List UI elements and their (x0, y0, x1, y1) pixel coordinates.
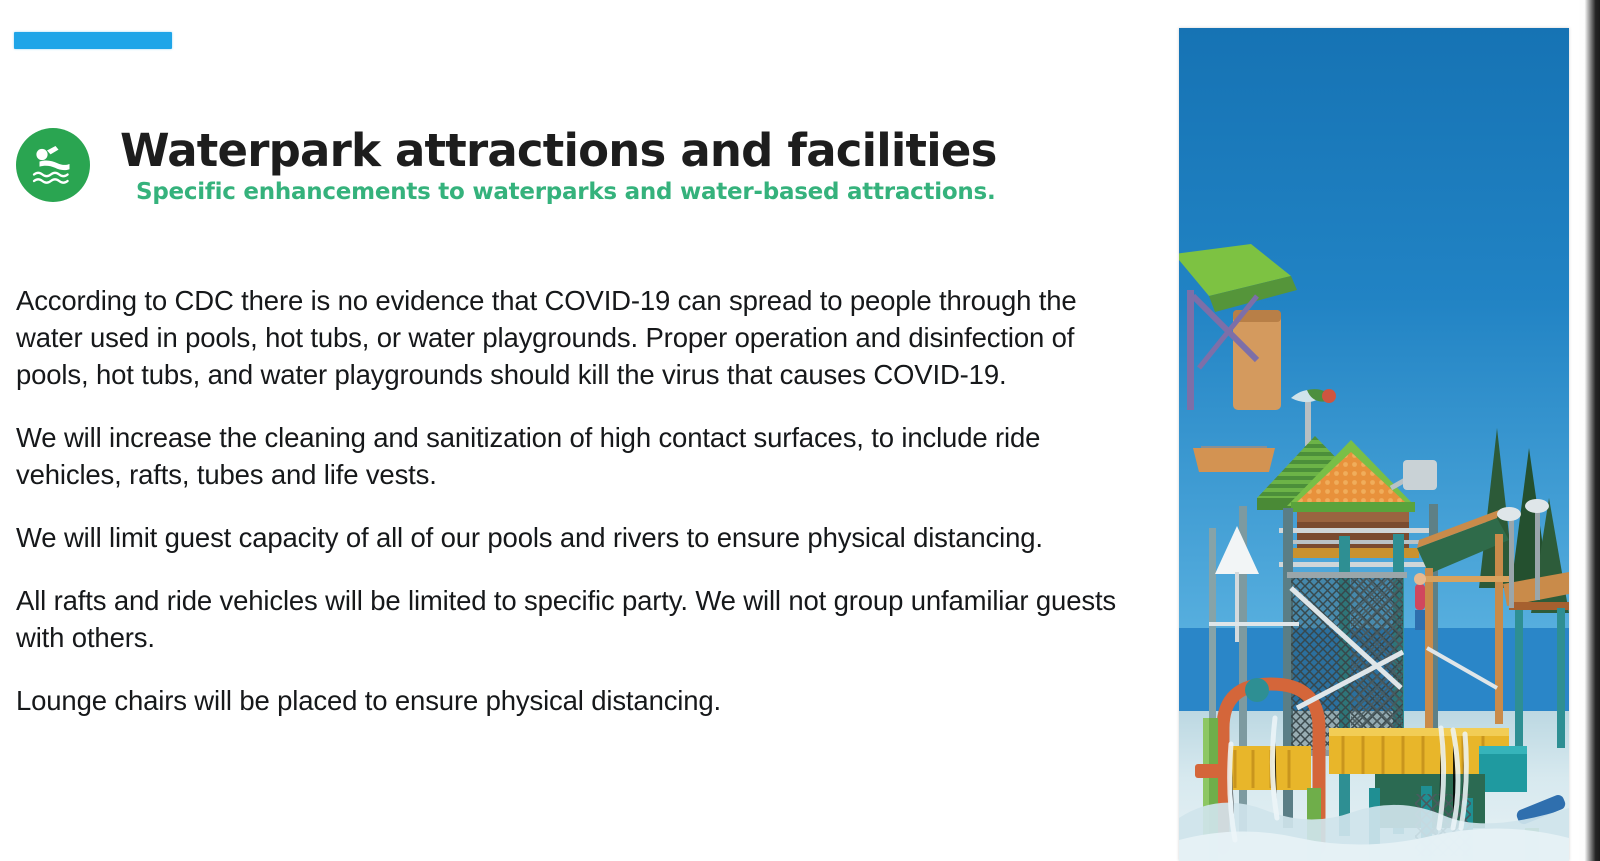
body-copy: According to CDC there is no evidence th… (16, 282, 1136, 719)
body-paragraph: According to CDC there is no evidence th… (16, 282, 1136, 393)
accent-bar (14, 32, 172, 49)
slide-header: Waterpark attractions and facilities Spe… (16, 126, 1116, 226)
page-title: Waterpark attractions and facilities (120, 126, 1120, 176)
page-subtitle: Specific enhancements to waterparks and … (136, 178, 1120, 206)
waterpark-play-structure-photo (1179, 28, 1569, 861)
body-paragraph: Lounge chairs will be placed to ensure p… (16, 682, 1136, 719)
body-paragraph: We will limit guest capacity of all of o… (16, 519, 1136, 556)
slide-canvas: Waterpark attractions and facilities Spe… (0, 0, 1600, 861)
body-paragraph: We will increase the cleaning and saniti… (16, 419, 1136, 493)
photo-content (1179, 28, 1569, 861)
swimmer-in-water-icon (16, 128, 90, 202)
body-paragraph: All rafts and ride vehicles will be limi… (16, 582, 1136, 656)
scan-edge-border (1578, 0, 1600, 861)
waterpark-structure-illustration (1179, 28, 1569, 861)
header-text-block: Waterpark attractions and facilities Spe… (120, 126, 1120, 206)
